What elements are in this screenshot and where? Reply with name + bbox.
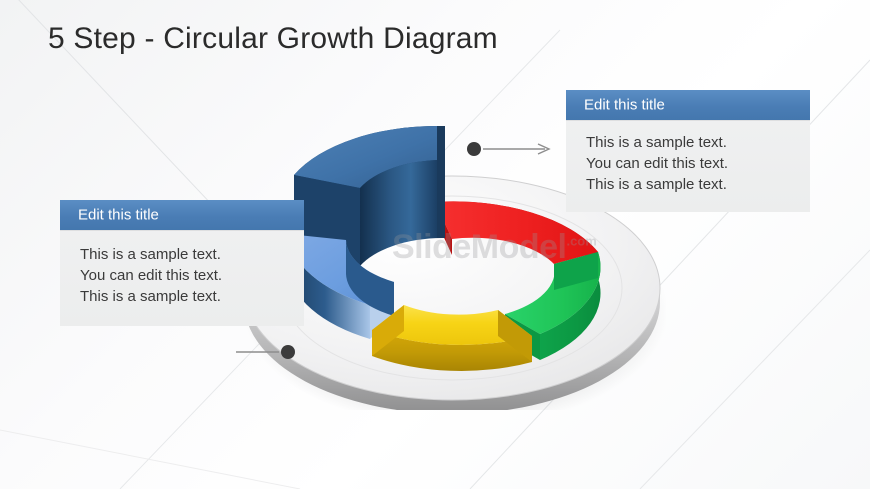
panel-right-title: Edit this title — [584, 97, 665, 114]
page-title: 5 Step - Circular Growth Diagram — [48, 22, 498, 56]
panel-left-body-line: This is a sample text. — [80, 244, 222, 265]
text-panel-right[interactable]: Edit this title This is a sample text. Y… — [566, 90, 810, 212]
panel-right-body-line: This is a sample text. — [586, 174, 728, 195]
panel-left-body-line: You can edit this text. — [80, 265, 222, 286]
panel-left-body-line: This is a sample text. — [80, 286, 222, 307]
panel-right-body: This is a sample text. You can edit this… — [586, 132, 728, 195]
connector-right-dot — [467, 142, 481, 156]
panel-left-title-bar[interactable]: Edit this title — [60, 200, 304, 230]
panel-left-body: This is a sample text. You can edit this… — [80, 244, 222, 307]
connector-right — [467, 142, 549, 156]
panel-right-title-bar[interactable]: Edit this title — [566, 90, 810, 120]
connector-left-dot — [281, 345, 295, 359]
panel-left-title: Edit this title — [78, 207, 159, 224]
panel-right-body-line: This is a sample text. — [586, 132, 728, 153]
slide-canvas: 5 Step - Circular Growth Diagram — [0, 0, 870, 489]
panel-right-body-line: You can edit this text. — [586, 153, 728, 174]
text-panel-left[interactable]: Edit this title This is a sample text. Y… — [60, 200, 304, 326]
